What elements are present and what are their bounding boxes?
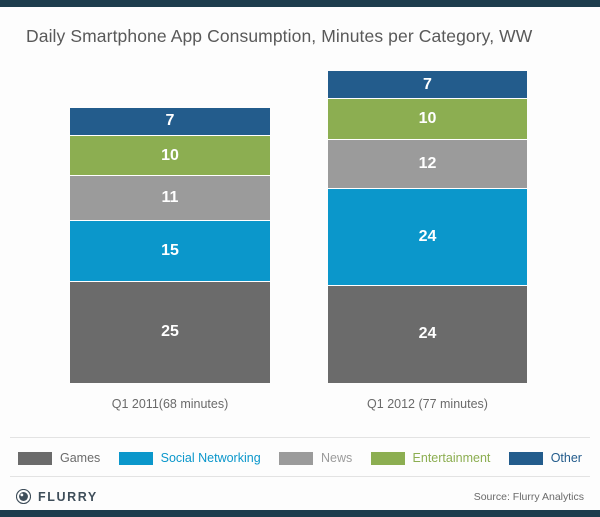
legend-swatch: [371, 452, 405, 465]
legend-item[interactable]: News: [279, 451, 352, 465]
stacked-bar: 710122424: [328, 71, 527, 383]
chart-legend: GamesSocial NetworkingNewsEntertainmentO…: [18, 447, 582, 469]
plot-area: 710111525Q1 2011(68 minutes)710122424Q1 …: [0, 0, 600, 430]
bar-segment-value: 25: [161, 323, 179, 341]
legend-label: Social Networking: [161, 451, 261, 465]
bar-segment-value: 24: [419, 228, 437, 246]
bar-segment-value: 7: [166, 112, 175, 130]
bar-segment: 10: [70, 136, 270, 177]
bar-segment-value: 15: [161, 242, 179, 260]
bar-segment: 7: [70, 108, 270, 136]
legend-item[interactable]: Entertainment: [371, 451, 491, 465]
bar-segment-value: 11: [162, 189, 179, 207]
flurry-target-icon: [16, 489, 31, 504]
legend-swatch: [18, 452, 52, 465]
bottom-accent-bar: [0, 510, 600, 517]
x-axis-label: Q1 2011(68 minutes): [70, 397, 270, 411]
bar-segment: 15: [70, 221, 270, 282]
bar-segment: 24: [328, 286, 527, 383]
legend-divider-bottom: [10, 476, 590, 477]
legend-swatch: [509, 452, 543, 465]
bar-segment: 7: [328, 71, 527, 99]
legend-label: Other: [551, 451, 582, 465]
bar-segment-value: 10: [419, 110, 437, 128]
bar-segment-value: 7: [423, 76, 432, 94]
bar-segment-value: 12: [419, 155, 437, 173]
x-axis-label: Q1 2012 (77 minutes): [328, 397, 527, 411]
chart-footer: FLURRY Source: Flurry Analytics: [0, 483, 600, 510]
source-attribution: Source: Flurry Analytics: [474, 491, 584, 503]
bar-segment: 10: [328, 99, 527, 140]
flurry-brand: FLURRY: [16, 489, 98, 504]
legend-item[interactable]: Games: [18, 451, 100, 465]
chart-page: Daily Smartphone App Consumption, Minute…: [0, 0, 600, 517]
legend-label: Entertainment: [413, 451, 491, 465]
stacked-bar: 710111525: [70, 108, 270, 383]
legend-divider-top: [10, 437, 590, 438]
legend-swatch: [119, 452, 153, 465]
bar-segment: 25: [70, 282, 270, 383]
bar-segment-value: 24: [419, 325, 437, 343]
legend-item[interactable]: Social Networking: [119, 451, 261, 465]
legend-item[interactable]: Other: [509, 451, 582, 465]
legend-label: Games: [60, 451, 100, 465]
bar-segment: 11: [70, 176, 270, 221]
flurry-wordmark: FLURRY: [38, 490, 98, 504]
legend-swatch: [279, 452, 313, 465]
legend-label: News: [321, 451, 352, 465]
bar-segment: 24: [328, 189, 527, 286]
bar-segment: 12: [328, 140, 527, 189]
bar-segment-value: 10: [161, 147, 179, 165]
